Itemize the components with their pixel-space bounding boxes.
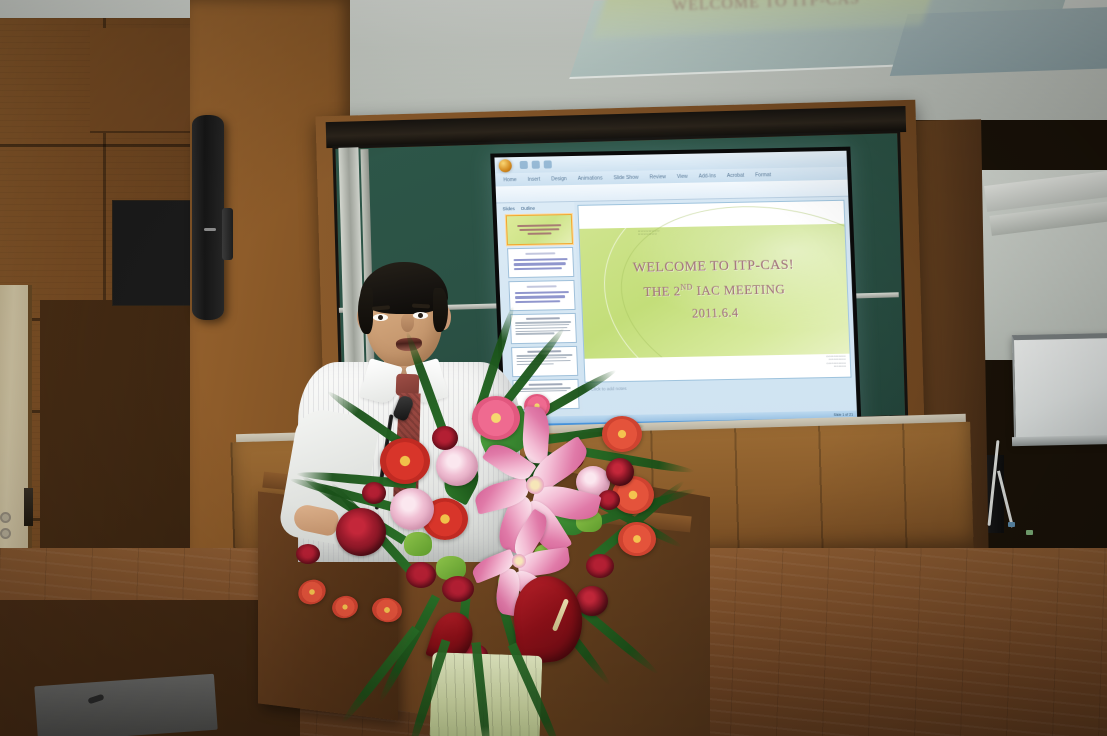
presenter-nose — [401, 314, 414, 332]
presenter-hair-side-left — [358, 288, 373, 334]
panel-tab-outline[interactable]: Outline — [521, 206, 535, 211]
flower-bouquet — [276, 386, 696, 736]
slide-body: ▭▭▭▭▭▭▭▭▭▭▭▭▭▭▭ WELCOME TO ITP-CAS! THE … — [579, 224, 849, 359]
whiteboard — [1012, 333, 1107, 443]
rose-pink — [390, 488, 434, 530]
door-hardware[interactable] — [0, 512, 12, 548]
floor-plug-a — [1008, 522, 1015, 527]
carnation-red — [362, 482, 386, 504]
save-icon[interactable] — [520, 161, 528, 169]
presenter-brow-right — [412, 304, 430, 309]
spray-flower — [330, 593, 361, 621]
speaker-logo — [204, 228, 216, 231]
presenter-hair-side-right — [433, 288, 448, 332]
panel-tabs[interactable]: Slides Outline — [500, 205, 571, 211]
carnation-red — [406, 562, 436, 588]
tab-animations[interactable]: Animations — [578, 175, 603, 181]
slide-header-tiny-text: ▭▭▭▭▭▭▭▭▭▭▭▭▭▭▭ — [638, 230, 660, 236]
redo-icon[interactable] — [544, 160, 552, 168]
slide-footer-text: ▭▭▭▭▭▭▭▭▭▭▭▭▭▭▭▭▭▭▭▭▭▭▭▭▭▭▭▭ — [826, 355, 846, 369]
wall-speaker-left — [192, 115, 224, 320]
lily-center — [512, 554, 526, 568]
status-slide-counter: Slide 1 of 21 — [833, 412, 853, 416]
current-slide[interactable]: ▭▭▭▭▭▭▭▭▭▭▭▭▭▭▭ WELCOME TO ITP-CAS! THE … — [577, 200, 851, 383]
speaker-mount-bracket — [222, 208, 233, 260]
door-hinge — [24, 488, 33, 526]
carnation-red — [442, 576, 474, 602]
slide-line2-post: IAC MEETING — [693, 281, 786, 298]
whiteboard-tray — [1012, 435, 1107, 446]
tab-add-ins[interactable]: Add-Ins — [699, 173, 716, 179]
tab-acrobat[interactable]: Acrobat — [727, 172, 744, 178]
tab-insert[interactable]: Insert — [528, 176, 541, 182]
slide-line2-pre: THE 2 — [643, 283, 681, 299]
carnation-red — [432, 426, 458, 450]
tab-format[interactable]: Format — [755, 172, 771, 178]
green-filler — [404, 532, 432, 556]
palm-frond-front — [339, 626, 420, 726]
thumbnail-content — [507, 215, 572, 244]
conference-room-photo: WELCOME TO ITP-CAS — [0, 0, 1107, 736]
tab-home[interactable]: Home — [503, 177, 517, 183]
tab-review[interactable]: Review — [649, 174, 666, 180]
tab-design[interactable]: Design — [551, 176, 567, 182]
office-orb-icon[interactable] — [498, 159, 512, 172]
carnation-red — [296, 544, 320, 564]
quick-access-toolbar[interactable] — [520, 160, 552, 169]
gerbera-red — [380, 438, 430, 484]
spray-flower — [294, 575, 329, 608]
slide-line2-superscript: ND — [680, 283, 693, 292]
panel-tab-slides[interactable]: Slides — [502, 206, 514, 211]
lily-center — [526, 476, 544, 494]
presenter-eye-left — [373, 314, 388, 321]
spray-flower — [370, 596, 404, 625]
undo-icon[interactable] — [532, 161, 540, 169]
gerbera-orange — [618, 522, 656, 556]
tab-view[interactable]: View — [677, 173, 688, 179]
slide-thumbnail-1[interactable]: 1 — [506, 214, 573, 245]
rose-red — [336, 508, 386, 556]
slide-bottom-band: ▭▭▭▭▭▭▭▭▭▭▭▭▭▭▭▭▭▭▭▭▭▭▭▭▭▭▭▭ — [585, 354, 851, 382]
presenter-eye-right — [413, 312, 428, 319]
tab-slide-show[interactable]: Slide Show — [613, 174, 638, 180]
floor-plug-b — [1026, 530, 1033, 535]
lily-petal — [521, 406, 551, 464]
acoustic-panel — [112, 200, 200, 306]
